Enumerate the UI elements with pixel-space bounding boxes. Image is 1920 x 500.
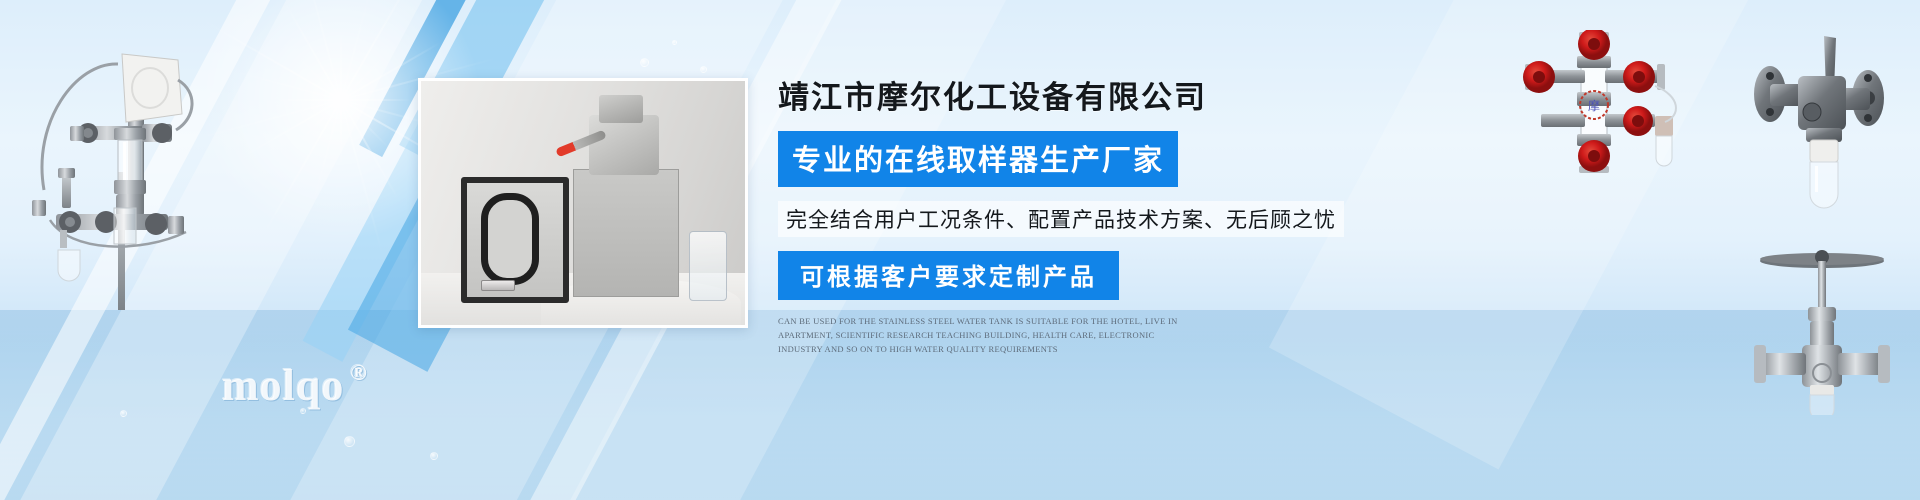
watermark-logo: molqo®: [222, 360, 368, 411]
english-description: CAN BE USED FOR THE STAINLESS STEEL WATE…: [778, 314, 1178, 356]
cta-badge: 可根据客户要求定制产品: [778, 251, 1119, 300]
subline-text: 完全结合用户工况条件、配置产品技术方案、无后顾之忧: [778, 201, 1344, 237]
sun-ray: [341, 99, 411, 101]
water-bubble: [672, 40, 677, 45]
water-bubble: [344, 436, 355, 447]
banner-copy: 靖江市摩尔化工设备有限公司 专业的在线取样器生产厂家 完全结合用户工况条件、配置…: [778, 72, 1398, 356]
water-bubble: [120, 410, 127, 417]
watermark-text: molqo: [222, 361, 344, 410]
sun-ray: [310, 100, 342, 212]
left-product-sampler: [10, 22, 210, 312]
promo-banner: 摩: [0, 0, 1920, 500]
water-bubble: [640, 58, 649, 67]
headline-badge: 专业的在线取样器生产厂家: [778, 131, 1178, 187]
sun-ray: [340, 100, 342, 170]
svg-text:摩: 摩: [1588, 98, 1600, 113]
sun-ray: [202, 19, 342, 101]
center-product-photo: [418, 78, 748, 328]
water-bubble: [430, 452, 438, 460]
water-bubble: [700, 66, 707, 73]
top-right-product-cross-valve: 摩: [1505, 30, 1685, 175]
company-name: 靖江市摩尔化工设备有限公司: [778, 72, 1398, 117]
mid-right-product-flanged-valve: [1740, 32, 1900, 222]
bottom-right-product-handwheel-valve: [1748, 245, 1898, 415]
registered-mark-icon: ®: [350, 360, 367, 385]
sun-ray: [299, 0, 342, 100]
sun-ray: [271, 99, 341, 101]
